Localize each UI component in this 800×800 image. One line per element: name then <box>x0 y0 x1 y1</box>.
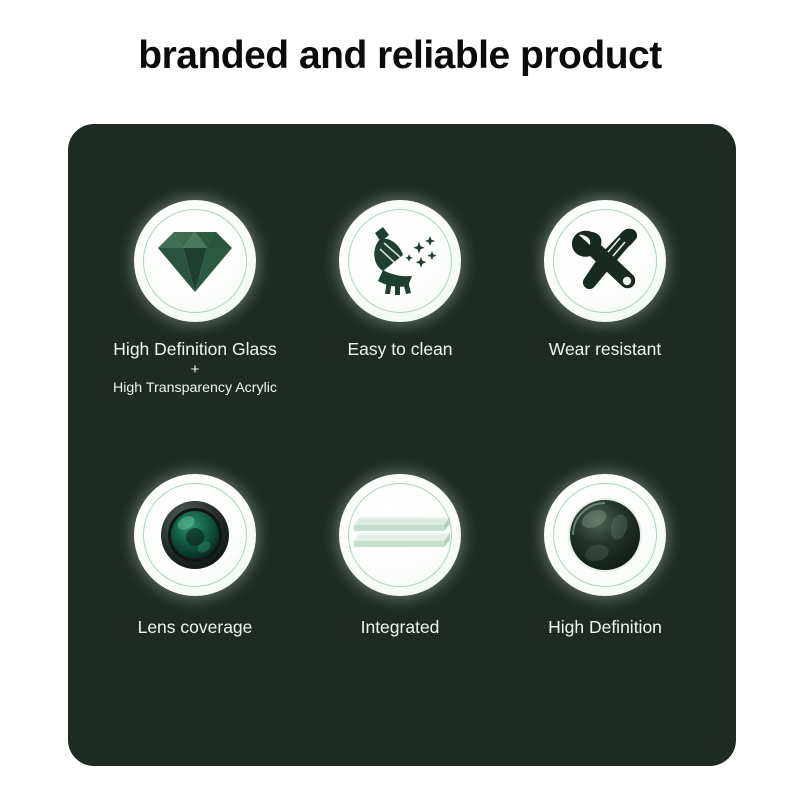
feature-icon-circle <box>544 200 666 322</box>
feature-icon-circle <box>134 200 256 322</box>
feature-label: High Definition <box>502 616 708 638</box>
feature-item-easy-to-clean[interactable]: Easy to clean <box>297 200 503 360</box>
feature-label: Integrated <box>297 616 503 638</box>
glass-sheet-bottom <box>354 533 450 547</box>
feature-label: Lens coverage <box>92 616 298 638</box>
features-grid: High Definition Glass + High Transparenc… <box>68 124 736 766</box>
feature-label-plus: + <box>92 361 298 378</box>
feature-item-high-definition-glass[interactable]: High Definition Glass + High Transparenc… <box>92 200 298 398</box>
features-panel: High Definition Glass + High Transparenc… <box>68 124 736 766</box>
diamond-icon <box>156 228 234 294</box>
feature-item-integrated[interactable]: Integrated <box>297 474 503 638</box>
glass-sheet-top <box>354 517 450 531</box>
feature-label: High Definition Glass + High Transparenc… <box>92 338 298 398</box>
broom-sparkle-icon <box>359 224 441 298</box>
sparkle-group <box>405 236 437 268</box>
feature-label: Easy to clean <box>297 338 503 360</box>
feature-icon-circle <box>339 474 461 596</box>
feature-icon-circle <box>339 200 461 322</box>
feature-item-high-definition[interactable]: High Definition <box>502 474 708 638</box>
wrench-screwdriver-icon <box>568 226 642 296</box>
feature-item-wear-resistant[interactable]: Wear resistant <box>502 200 708 360</box>
feature-label: Wear resistant <box>502 338 708 360</box>
glass-layers-icon <box>348 507 452 563</box>
feature-label-line1: High Definition Glass <box>113 339 276 359</box>
glossy-dome-icon <box>567 497 643 573</box>
feature-label-line2: High Transparency Acrylic <box>92 379 298 398</box>
infographic-page: branded and reliable product <box>0 0 800 800</box>
page-title: branded and reliable product <box>0 34 800 78</box>
feature-icon-circle <box>134 474 256 596</box>
feature-icon-circle <box>544 474 666 596</box>
feature-item-lens-coverage[interactable]: Lens coverage <box>92 474 298 638</box>
camera-lens-icon <box>160 500 230 570</box>
